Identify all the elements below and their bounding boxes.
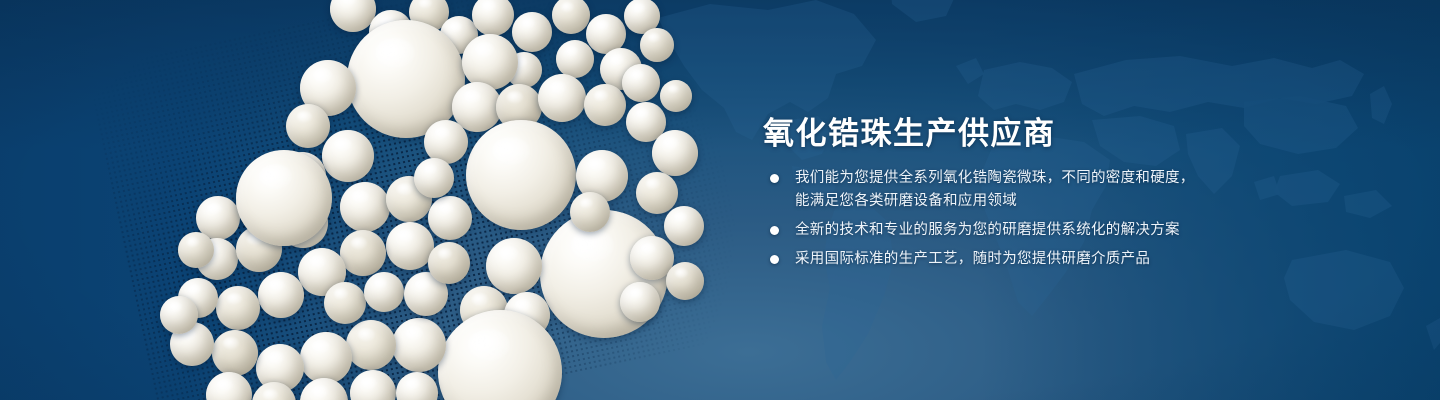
list-item-line1: 采用国际标准的生产工艺，随时为您提供研磨介质产品 bbox=[795, 248, 1195, 271]
bullet-dot-icon bbox=[770, 174, 779, 183]
list-item: 我们能为您提供全系列氧化锆陶瓷微珠，不同的密度和硬度， 能满足您各类研磨设备和应… bbox=[765, 167, 1195, 213]
page-title: 氧化锆珠生产供应商 bbox=[763, 108, 1056, 153]
bullet-dot-icon bbox=[770, 226, 779, 235]
list-item: 采用国际标准的生产工艺，随时为您提供研磨介质产品 bbox=[765, 248, 1195, 271]
bullet-dot-icon bbox=[770, 255, 779, 264]
list-item: 全新的技术和专业的服务为您的研磨提供系统化的解决方案 bbox=[765, 219, 1195, 242]
list-item-line1: 全新的技术和专业的服务为您的研磨提供系统化的解决方案 bbox=[795, 219, 1195, 242]
banner-text-content: 氧化锆珠生产供应商 我们能为您提供全系列氧化锆陶瓷微珠，不同的密度和硬度， 能满… bbox=[763, 0, 1323, 400]
feature-list: 我们能为您提供全系列氧化锆陶瓷微珠，不同的密度和硬度， 能满足您各类研磨设备和应… bbox=[765, 167, 1195, 271]
list-item-line1: 我们能为您提供全系列氧化锆陶瓷微珠，不同的密度和硬度， bbox=[795, 167, 1195, 190]
hero-banner: 氧化锆珠生产供应商 我们能为您提供全系列氧化锆陶瓷微珠，不同的密度和硬度， 能满… bbox=[0, 0, 1440, 400]
list-item-line2: 能满足您各类研磨设备和应用领域 bbox=[795, 190, 1195, 213]
